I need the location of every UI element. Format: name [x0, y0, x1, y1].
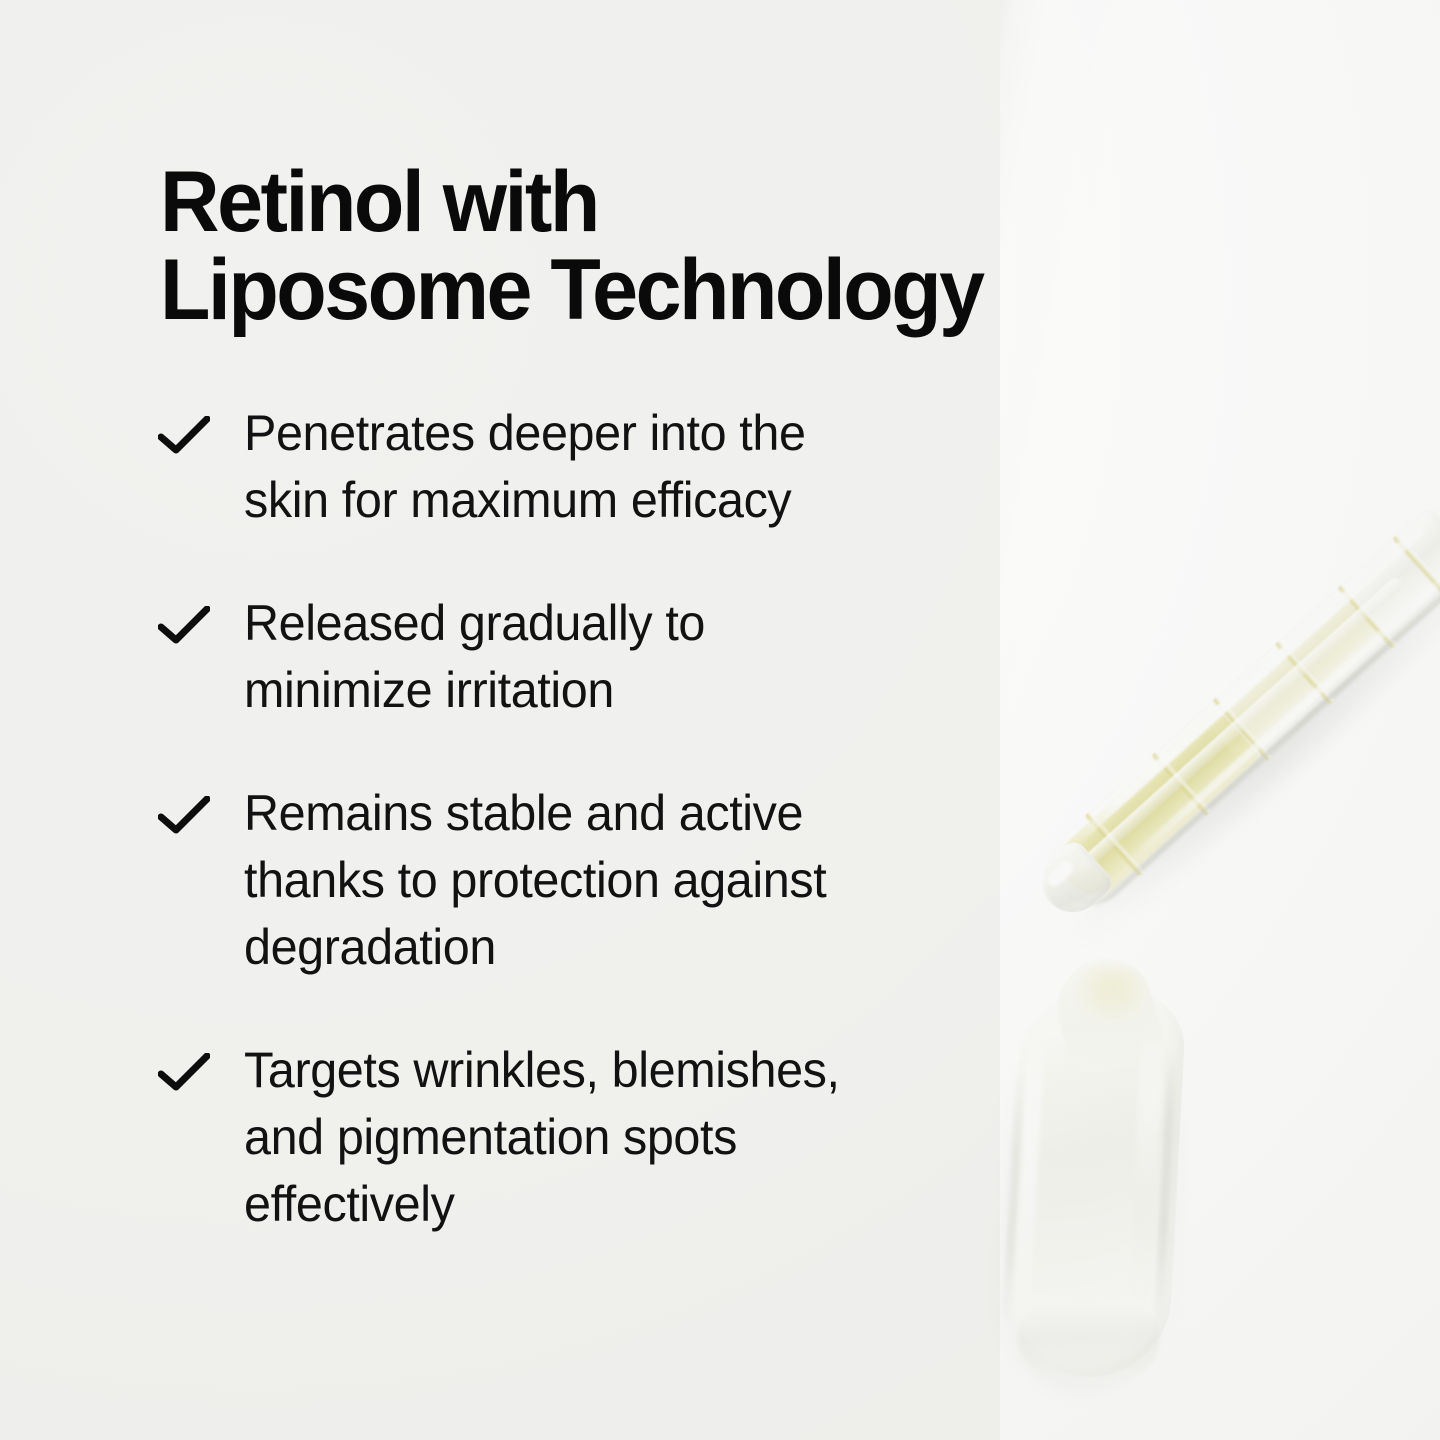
- feature-text: Remains stable and active thanks to prot…: [244, 780, 1014, 981]
- check-icon: [158, 400, 244, 456]
- check-icon: [158, 780, 244, 836]
- list-item: Released gradually to minimize irritatio…: [158, 590, 1038, 724]
- product-feature-card: Retinol with Liposome Technology Penetra…: [0, 0, 1440, 1440]
- feature-text: Released gradually to minimize irritatio…: [244, 590, 1014, 724]
- list-item: Penetrates deeper into the skin for maxi…: [158, 400, 1038, 534]
- list-item: Remains stable and active thanks to prot…: [158, 780, 1038, 981]
- check-icon: [158, 590, 244, 646]
- feature-text: Penetrates deeper into the skin for maxi…: [244, 400, 1014, 534]
- feature-text: Targets wrinkles, blemishes, and pigment…: [244, 1037, 1014, 1238]
- page-title: Retinol with Liposome Technology: [160, 158, 1120, 334]
- card-content: Retinol with Liposome Technology Penetra…: [0, 0, 1440, 1440]
- check-icon: [158, 1037, 244, 1093]
- list-item: Targets wrinkles, blemishes, and pigment…: [158, 1037, 1038, 1238]
- feature-benefit-list: Penetrates deeper into the skin for maxi…: [158, 400, 1038, 1238]
